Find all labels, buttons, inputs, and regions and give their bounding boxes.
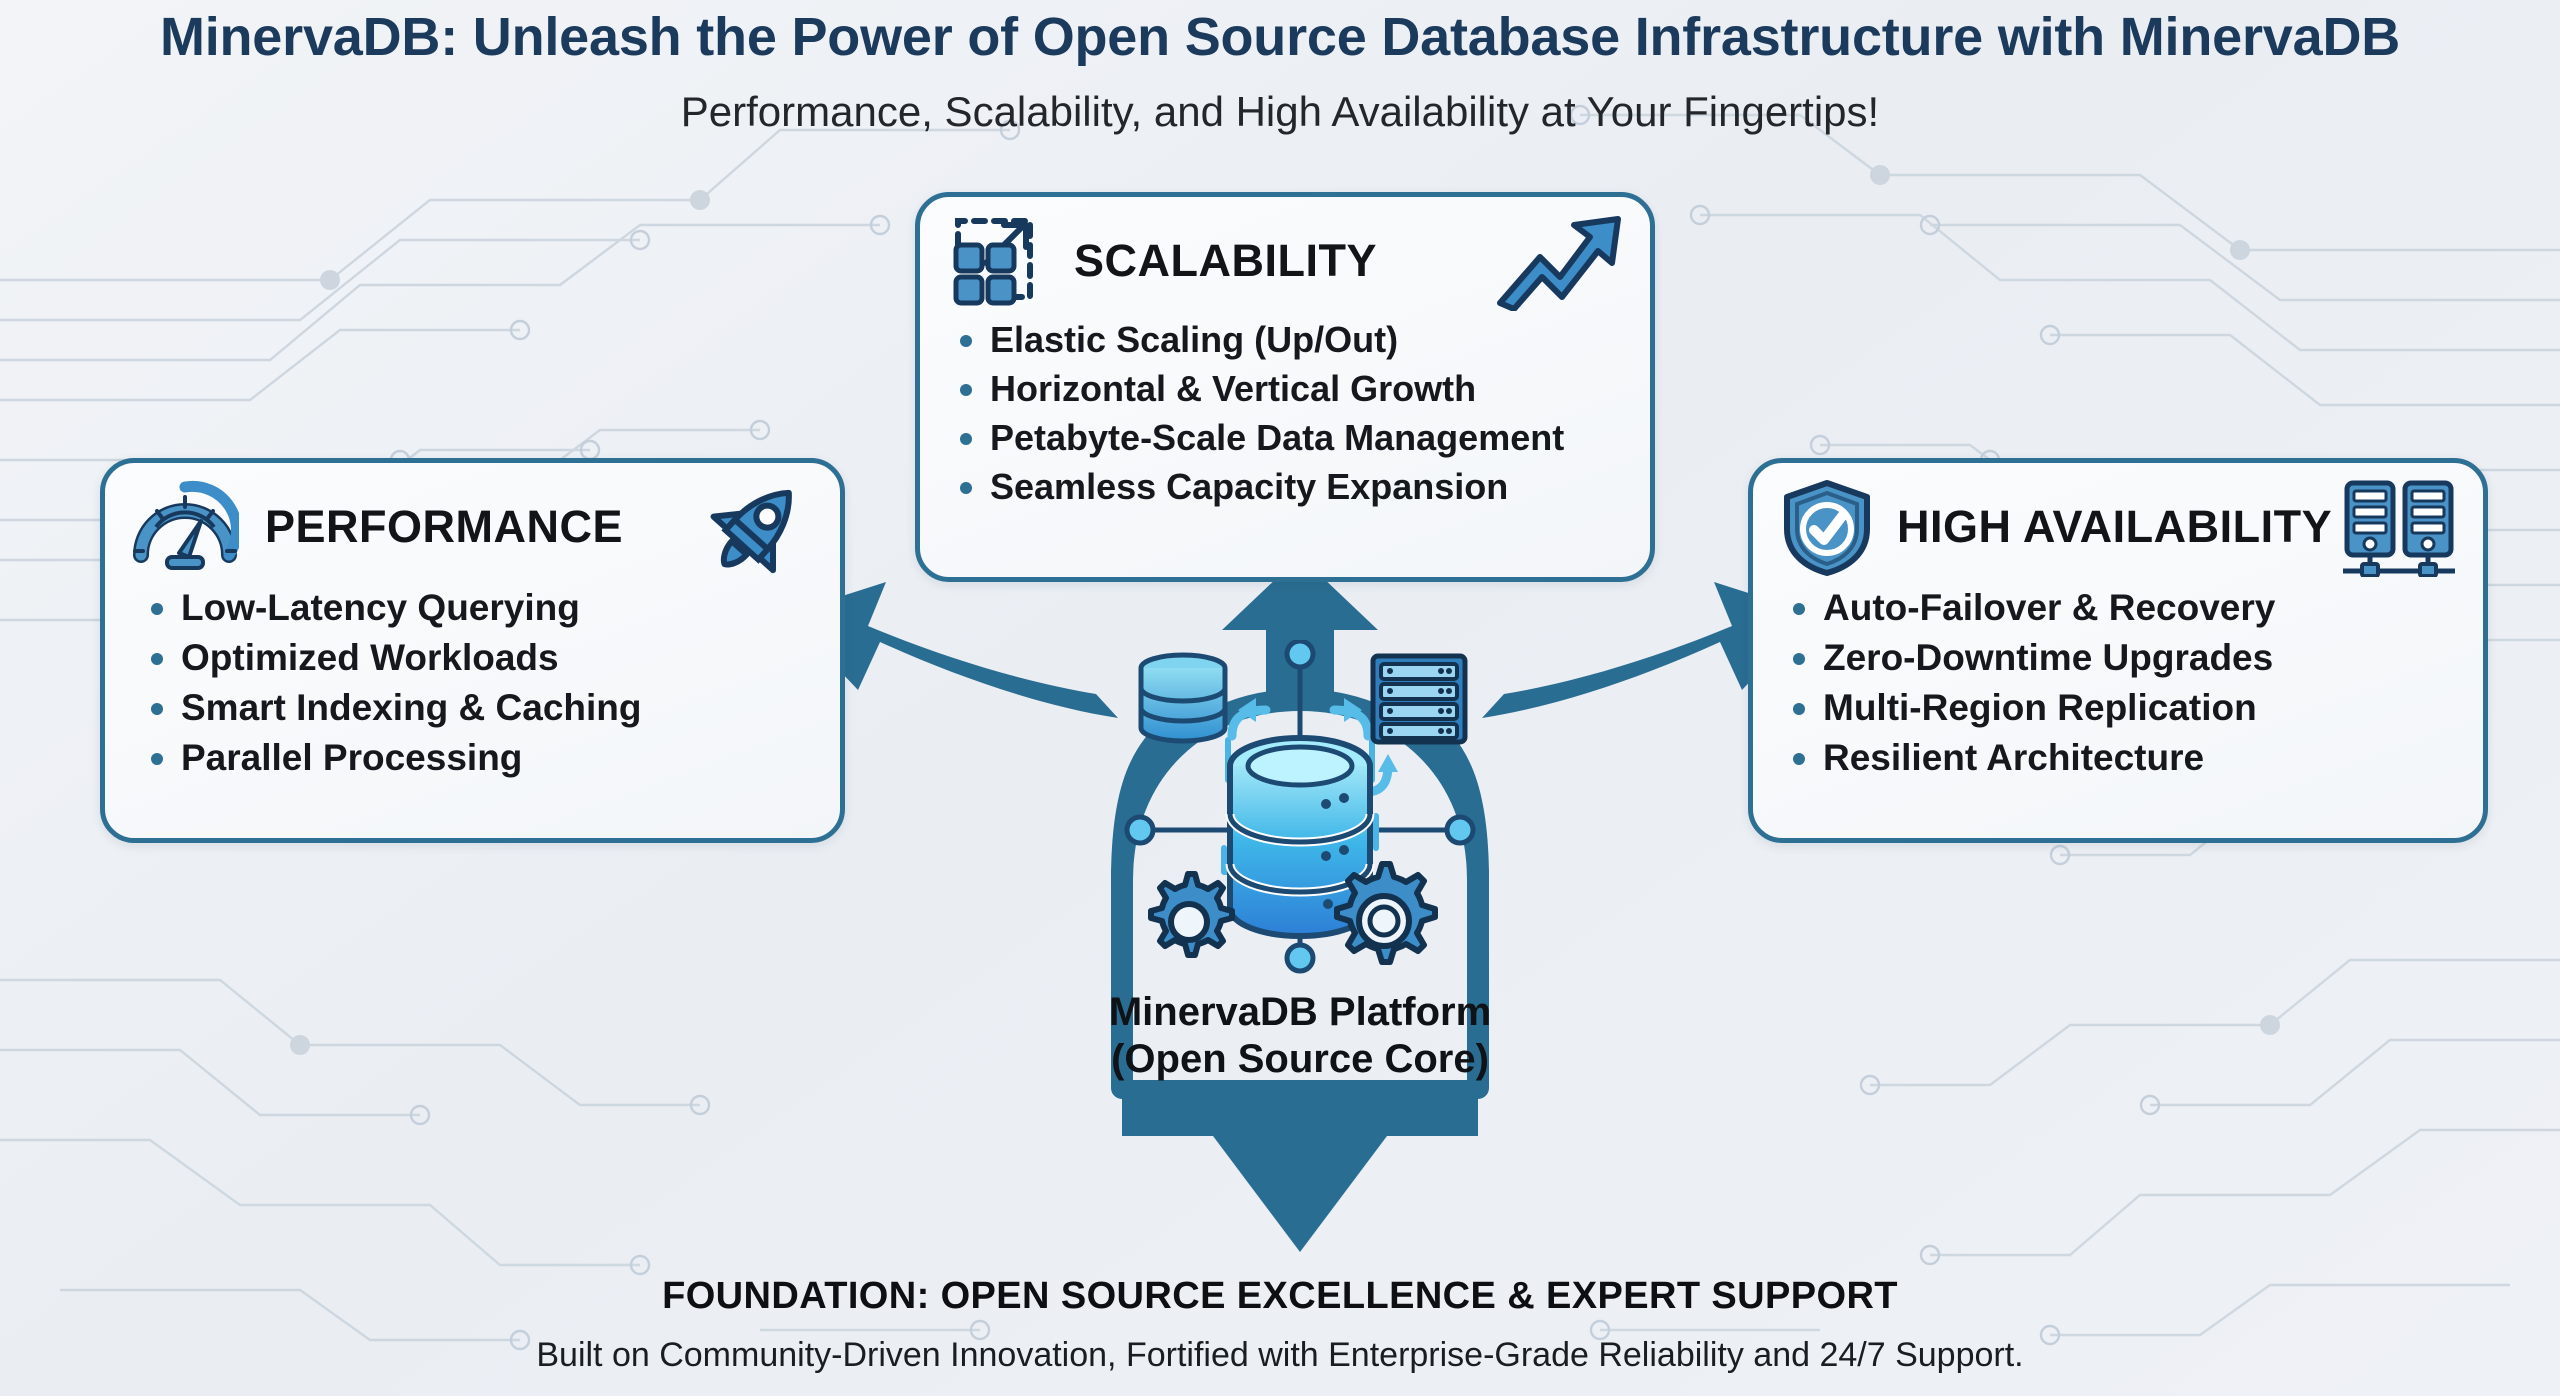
trending-up-arrow-icon (1494, 211, 1624, 311)
list-item: Auto-Failover & Recovery (1793, 583, 2483, 633)
list-item: Optimized Workloads (151, 633, 840, 683)
list-item: Seamless Capacity Expansion (960, 462, 1650, 511)
infographic-canvas: MinervaDB: Unleash the Power of Open Sou… (0, 0, 2560, 1396)
rocket-icon (702, 475, 814, 580)
hub-label-line-2: (Open Source Core) (1020, 1037, 1580, 1082)
card-performance-title: PERFORMANCE (265, 501, 623, 553)
list-item: Low-Latency Querying (151, 583, 840, 633)
card-performance[interactable]: PERFORMANCE Low-Latency Querying Optimiz… (100, 458, 845, 843)
foundation-title: FOUNDATION: OPEN SOURCE EXCELLENCE & EXP… (0, 1275, 2560, 1318)
list-item: Zero-Downtime Upgrades (1793, 633, 2483, 683)
card-high-availability-title: HIGH AVAILABILITY (1897, 501, 2332, 553)
list-item: Horizontal & Vertical Growth (960, 364, 1650, 413)
card-high-availability-bullets: Auto-Failover & Recovery Zero-Downtime U… (1753, 575, 2483, 783)
list-item: Multi-Region Replication (1793, 683, 2483, 733)
foundation-subtitle: Built on Community-Driven Innovation, Fo… (0, 1336, 2560, 1375)
card-scalability-header: SCALABILITY (920, 197, 1650, 309)
page-subtitle: Performance, Scalability, and High Avail… (0, 88, 2560, 136)
card-high-availability[interactable]: HIGH AVAILABILITY Auto-Failover & Recove… (1748, 458, 2488, 843)
database-platform-icon (1120, 640, 1480, 980)
card-performance-bullets: Low-Latency Querying Optimized Workloads… (105, 575, 840, 783)
card-high-availability-header: HIGH AVAILABILITY (1753, 463, 2483, 575)
server-rack-icon (2341, 477, 2457, 577)
list-item: Resilient Architecture (1793, 733, 2483, 783)
hub-minervadb-platform[interactable]: MinervaDB Platform (Open Source Core) (1020, 600, 1580, 1140)
list-item: Smart Indexing & Caching (151, 683, 840, 733)
gear-icon-left (1151, 874, 1232, 955)
hub-label-line-1: MinervaDB Platform (1020, 990, 1580, 1035)
list-item: Elastic Scaling (Up/Out) (960, 315, 1650, 364)
shield-check-icon (1779, 477, 1875, 577)
gear-icon-right (1337, 864, 1435, 962)
card-scalability[interactable]: SCALABILITY Elastic Scaling (Up/Out) Hor… (915, 192, 1655, 582)
card-scalability-bullets: Elastic Scaling (Up/Out) Horizontal & Ve… (920, 309, 1650, 511)
page-title: MinervaDB: Unleash the Power of Open Sou… (0, 6, 2560, 68)
list-item: Petabyte-Scale Data Management (960, 413, 1650, 462)
card-performance-header: PERFORMANCE (105, 463, 840, 575)
grid-expand-icon (946, 211, 1050, 311)
card-scalability-title: SCALABILITY (1074, 235, 1377, 287)
speedometer-icon (131, 477, 239, 577)
list-item: Parallel Processing (151, 733, 840, 783)
